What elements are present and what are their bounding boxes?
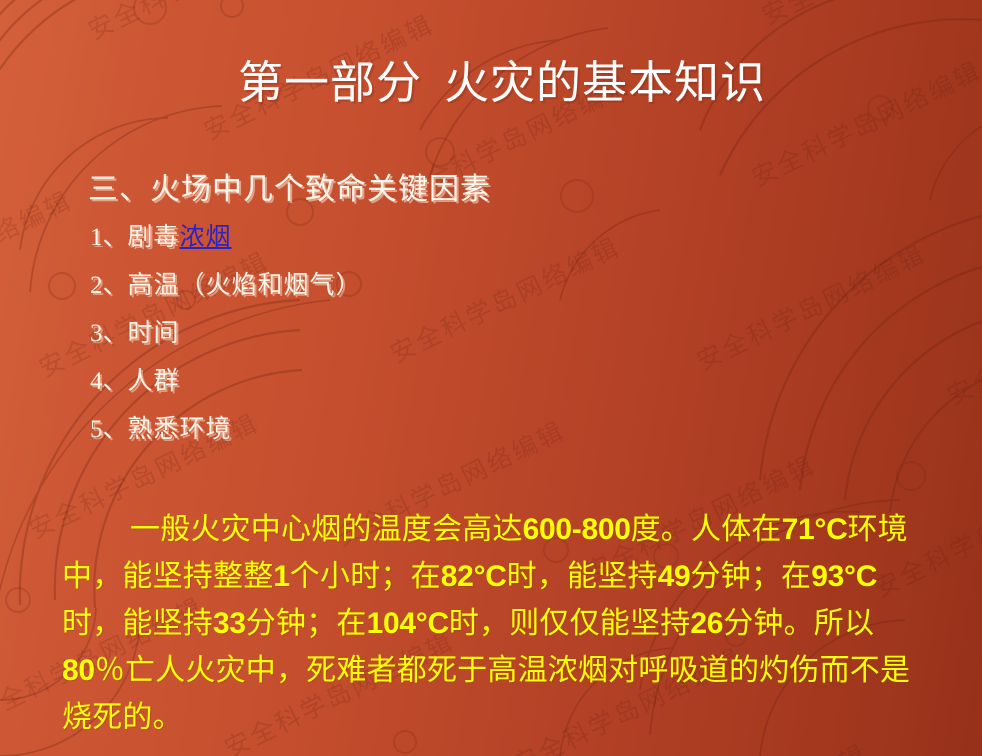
list-item-index: 3、 bbox=[90, 320, 128, 347]
list-item: 2、高温（火焰和烟气） bbox=[90, 273, 362, 321]
para-num: 80 bbox=[62, 654, 95, 687]
para-seg: 一般火灾中心烟的温度会高达 bbox=[130, 513, 523, 546]
list-item-label: 高温（火焰和烟气） bbox=[128, 272, 362, 299]
key-factors-list: 1、剧毒浓烟 2、高温（火焰和烟气） 3、时间 4、人群 5、熟悉环境 bbox=[90, 225, 362, 465]
para-num: 49 bbox=[658, 560, 691, 593]
para-num: 104°C bbox=[367, 607, 449, 640]
para-seg: 度。人体在 bbox=[631, 513, 782, 546]
para-num: 71°C bbox=[782, 513, 848, 546]
para-num: 600-800 bbox=[523, 513, 631, 546]
para-seg: 分钟。所以 bbox=[723, 607, 874, 640]
body-paragraph: 一般火灾中心烟的温度会高达600-800度。人体在71°C环境中，能坚持整整1个… bbox=[62, 506, 918, 741]
list-item: 4、人群 bbox=[90, 369, 362, 417]
page-title: 第一部分火灾的基本知识 bbox=[0, 58, 982, 110]
para-seg: 时，能坚持 bbox=[507, 560, 658, 593]
para-num: 26 bbox=[690, 607, 723, 640]
list-item: 3、时间 bbox=[90, 321, 362, 369]
para-seg: 分钟；在 bbox=[690, 560, 811, 593]
section-heading: 三、火场中几个致命关键因素 bbox=[88, 172, 491, 208]
page-title-part-one: 第一部分 bbox=[238, 58, 422, 108]
list-item-index: 2、 bbox=[90, 272, 128, 299]
para-seg: 时，能坚持 bbox=[62, 607, 213, 640]
para-seg: ％亡人火灾中，死难者都死于高温浓烟对呼吸道的灼伤而不是烧死的。 bbox=[62, 654, 910, 734]
slide-canvas: 安全科学岛网络编辑安全科学岛网络编辑安全科学岛网络编辑安全科学岛网络编辑安全科学… bbox=[0, 0, 982, 756]
para-num: 1 bbox=[273, 560, 289, 593]
list-item-label: 剧毒 bbox=[128, 224, 180, 251]
list-item-label: 熟悉环境 bbox=[128, 416, 232, 443]
para-seg: 个小时；在 bbox=[290, 560, 441, 593]
list-item-index: 5、 bbox=[90, 416, 128, 443]
list-item-index: 4、 bbox=[90, 368, 128, 395]
list-item-label: 人群 bbox=[128, 368, 180, 395]
para-num: 82°C bbox=[441, 560, 507, 593]
para-num: 93°C bbox=[811, 560, 877, 593]
hyperlink-dense-smoke[interactable]: 浓烟 bbox=[180, 224, 232, 251]
list-item-index: 1、 bbox=[90, 224, 128, 251]
page-title-part-two: 火灾的基本知识 bbox=[444, 58, 766, 108]
list-item: 5、熟悉环境 bbox=[90, 417, 362, 465]
slide-content: 第一部分火灾的基本知识 三、火场中几个致命关键因素 1、剧毒浓烟 2、高温（火焰… bbox=[0, 0, 982, 756]
para-seg: 时，则仅仅能坚持 bbox=[449, 607, 691, 640]
list-item: 1、剧毒浓烟 bbox=[90, 225, 362, 273]
list-item-label: 时间 bbox=[128, 320, 180, 347]
para-num: 33 bbox=[213, 607, 246, 640]
para-seg: 分钟；在 bbox=[246, 607, 367, 640]
